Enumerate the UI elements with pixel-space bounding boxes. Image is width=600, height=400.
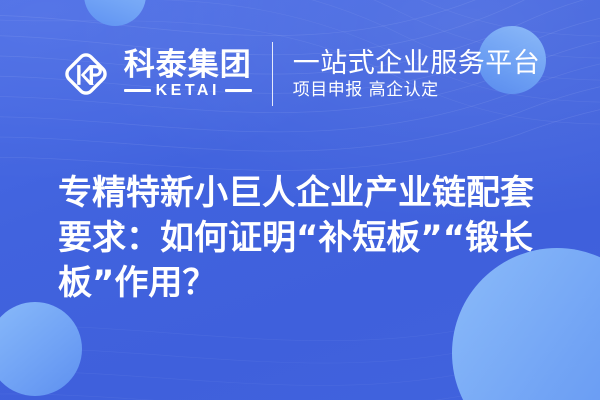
brand-dash-left [124, 89, 151, 92]
brand-dash-right [225, 89, 252, 92]
brand-lockup[interactable]: 科泰集团 KETAI [60, 48, 252, 100]
brand-name-cn: 科泰集团 [124, 50, 252, 81]
ketai-diamond-monogram-logo-icon [60, 48, 112, 100]
page-title: 专精特新小巨人企业产业链配套要求：如何证明“补短板”“锻长板”作用？ [58, 171, 562, 307]
tagline-main: 一站式企业服务平台 [293, 49, 541, 78]
promo-banner: 科泰集团 KETAI 一站式企业服务平台 项目申报 高企认定 专精特新小巨人企业… [0, 0, 600, 400]
brand-text-block: 科泰集团 KETAI [124, 50, 252, 99]
banner-header: 科泰集团 KETAI 一站式企业服务平台 项目申报 高企认定 [0, 38, 600, 110]
header-tagline: 一站式企业服务平台 项目申报 高企认定 [293, 49, 541, 100]
brand-name-en: KETAI [156, 83, 220, 99]
header-divider [272, 42, 273, 106]
tagline-sub: 项目申报 高企认定 [293, 81, 541, 100]
brand-name-en-row: KETAI [124, 83, 252, 99]
